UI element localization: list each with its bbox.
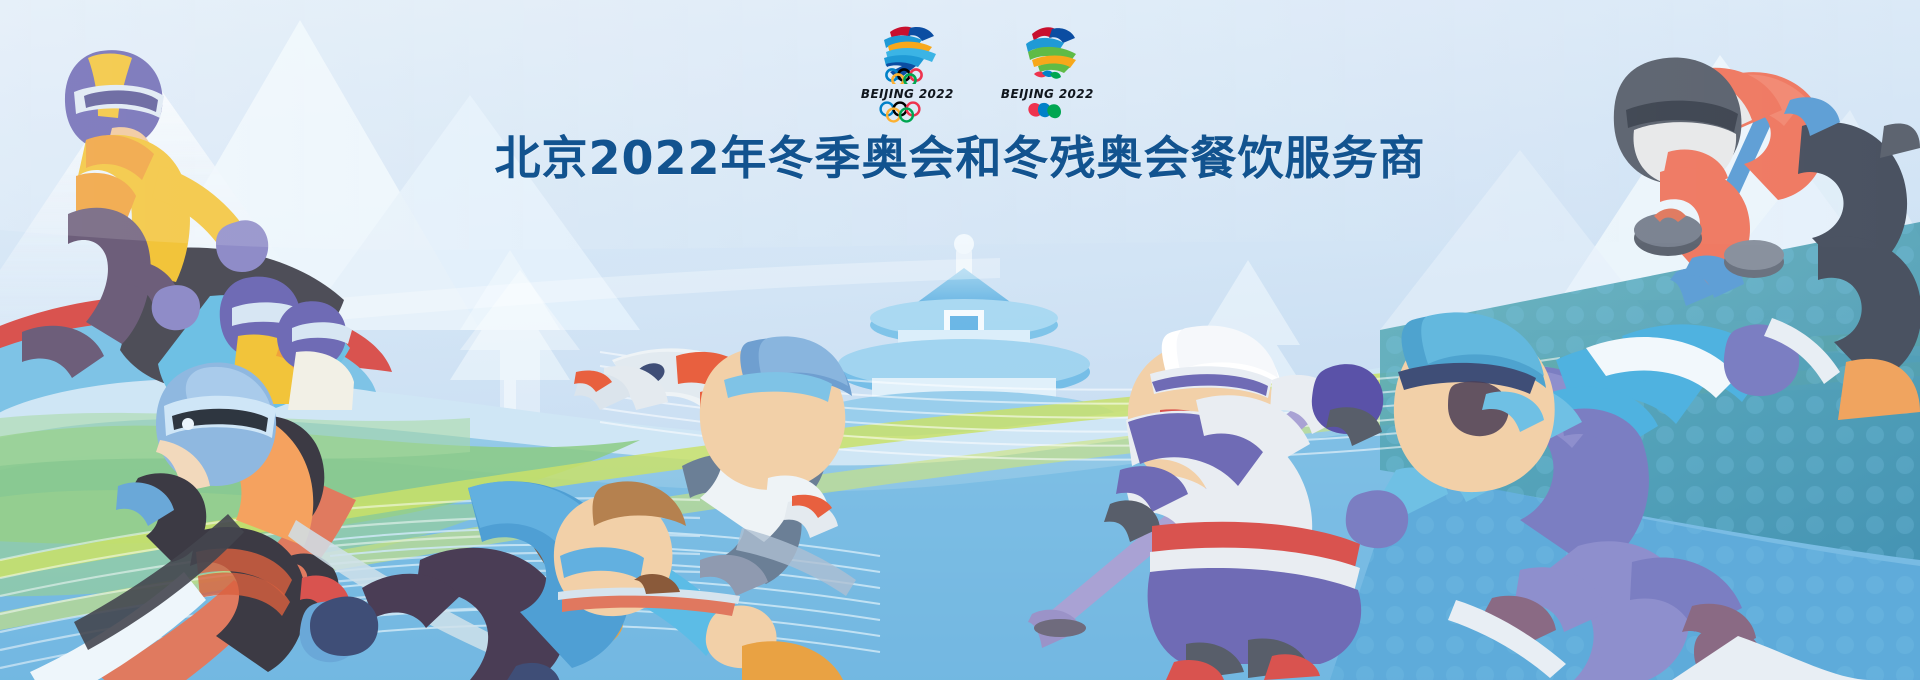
olympic-banner: BEIJING 2022 bbox=[0, 0, 1920, 680]
olympic-wordmark: BEIJING 2022 bbox=[861, 86, 954, 101]
olympic-rings-icon bbox=[876, 101, 938, 123]
emblem-group: BEIJING 2022 bbox=[852, 22, 1102, 130]
alpine-skier bbox=[30, 363, 540, 680]
paralympic-emblem-block: BEIJING 2022 bbox=[992, 22, 1102, 123]
hockey-puck bbox=[1034, 619, 1086, 637]
beijing-2022-olympic-emblem bbox=[870, 22, 944, 84]
olympic-emblem-block: BEIJING 2022 bbox=[852, 22, 962, 123]
page-title: 北京2022年冬季奥会和冬残奥会餐饮服务商 bbox=[0, 122, 1920, 188]
curling-stone-bottom bbox=[1724, 240, 1784, 278]
speed-skater-blue bbox=[1346, 312, 1876, 680]
beijing-2022-paralympic-emblem bbox=[1010, 22, 1084, 84]
agitos-icon bbox=[1016, 101, 1078, 123]
paralympic-wordmark: BEIJING 2022 bbox=[1001, 86, 1094, 101]
ice-hockey-player bbox=[1028, 326, 1383, 680]
